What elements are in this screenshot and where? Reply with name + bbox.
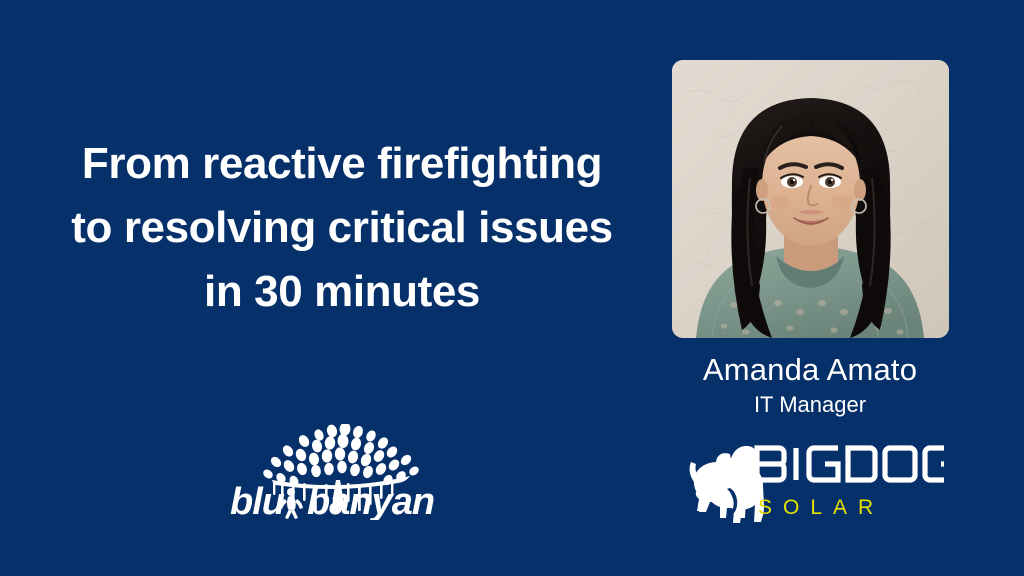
speaker-portrait-photo — [672, 60, 949, 338]
blu-banyan-wordmark-part1: blu — [230, 481, 285, 520]
bigdog-solar-logo: SOLAR — [686, 440, 944, 526]
slide-canvas: From reactive firefighting to resolving … — [0, 0, 1024, 576]
blu-banyan-logo: blu banyan — [228, 424, 453, 520]
headline-line-2: to resolving critical issues — [33, 196, 651, 260]
bigdog-solar-logo-svg: SOLAR — [686, 440, 944, 526]
portrait-illustration — [672, 60, 949, 338]
page-title: From reactive firefighting to resolving … — [33, 132, 651, 324]
bigdog-wordmark — [757, 448, 944, 480]
banyan-tree-icon: blu banyan — [228, 424, 453, 520]
speaker-info: Amanda Amato IT Manager — [660, 352, 960, 420]
bigdog-solar-tagline: SOLAR — [758, 496, 884, 519]
headline-line-1: From reactive firefighting — [33, 132, 651, 196]
speaker-role: IT Manager — [660, 390, 960, 420]
headline-line-3: in 30 minutes — [33, 260, 651, 324]
blu-banyan-wordmark-part2: banyan — [307, 481, 434, 520]
speaker-name: Amanda Amato — [660, 352, 960, 388]
